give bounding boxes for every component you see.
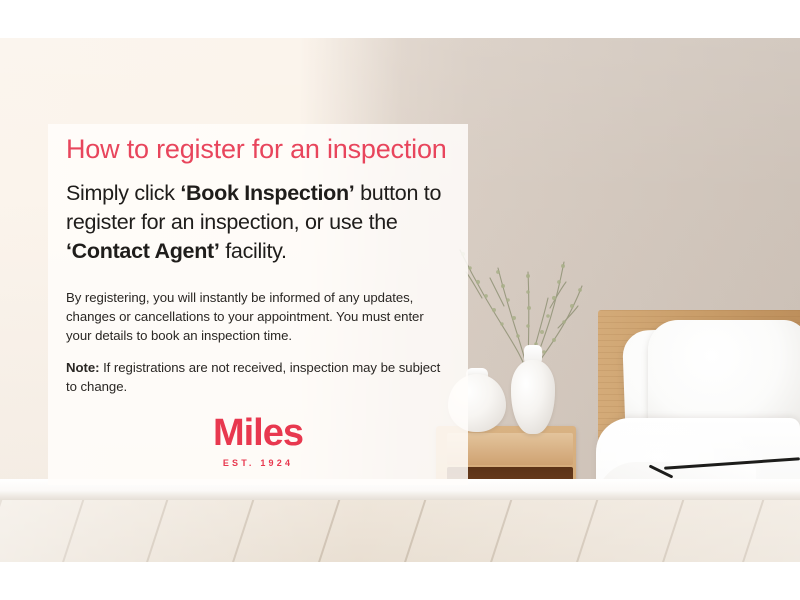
instruction-suffix: facility. bbox=[220, 239, 287, 263]
note-label: Note: bbox=[66, 360, 99, 375]
brand-name: Miles bbox=[48, 413, 468, 453]
tall-vase bbox=[511, 360, 555, 434]
page-title: How to register for an inspection bbox=[66, 133, 447, 165]
letterbox-top bbox=[0, 0, 800, 38]
info-panel: How to register for an inspection Simply… bbox=[48, 124, 468, 485]
brand-logo: Miles EST. 1924 bbox=[48, 413, 468, 470]
registration-paragraph: By registering, you will instantly be in… bbox=[66, 288, 444, 345]
note-paragraph: Note: If registrations are not received,… bbox=[66, 358, 444, 396]
room-photo: How to register for an inspection Simply… bbox=[0, 38, 800, 562]
wood-floor bbox=[0, 500, 800, 562]
contact-agent-label: ‘Contact Agent’ bbox=[66, 239, 220, 263]
instruction-prefix: Simply click bbox=[66, 181, 180, 205]
letterbox-bottom bbox=[0, 562, 800, 600]
book-inspection-label: ‘Book Inspection’ bbox=[180, 181, 354, 205]
floor-sheen bbox=[0, 500, 800, 562]
brand-established: EST. 1924 bbox=[48, 456, 468, 470]
screenshot-canvas: How to register for an inspection Simply… bbox=[0, 0, 800, 600]
instruction-text: Simply click ‘Book Inspection’ button to… bbox=[66, 179, 460, 266]
note-text: If registrations are not received, inspe… bbox=[66, 360, 440, 394]
